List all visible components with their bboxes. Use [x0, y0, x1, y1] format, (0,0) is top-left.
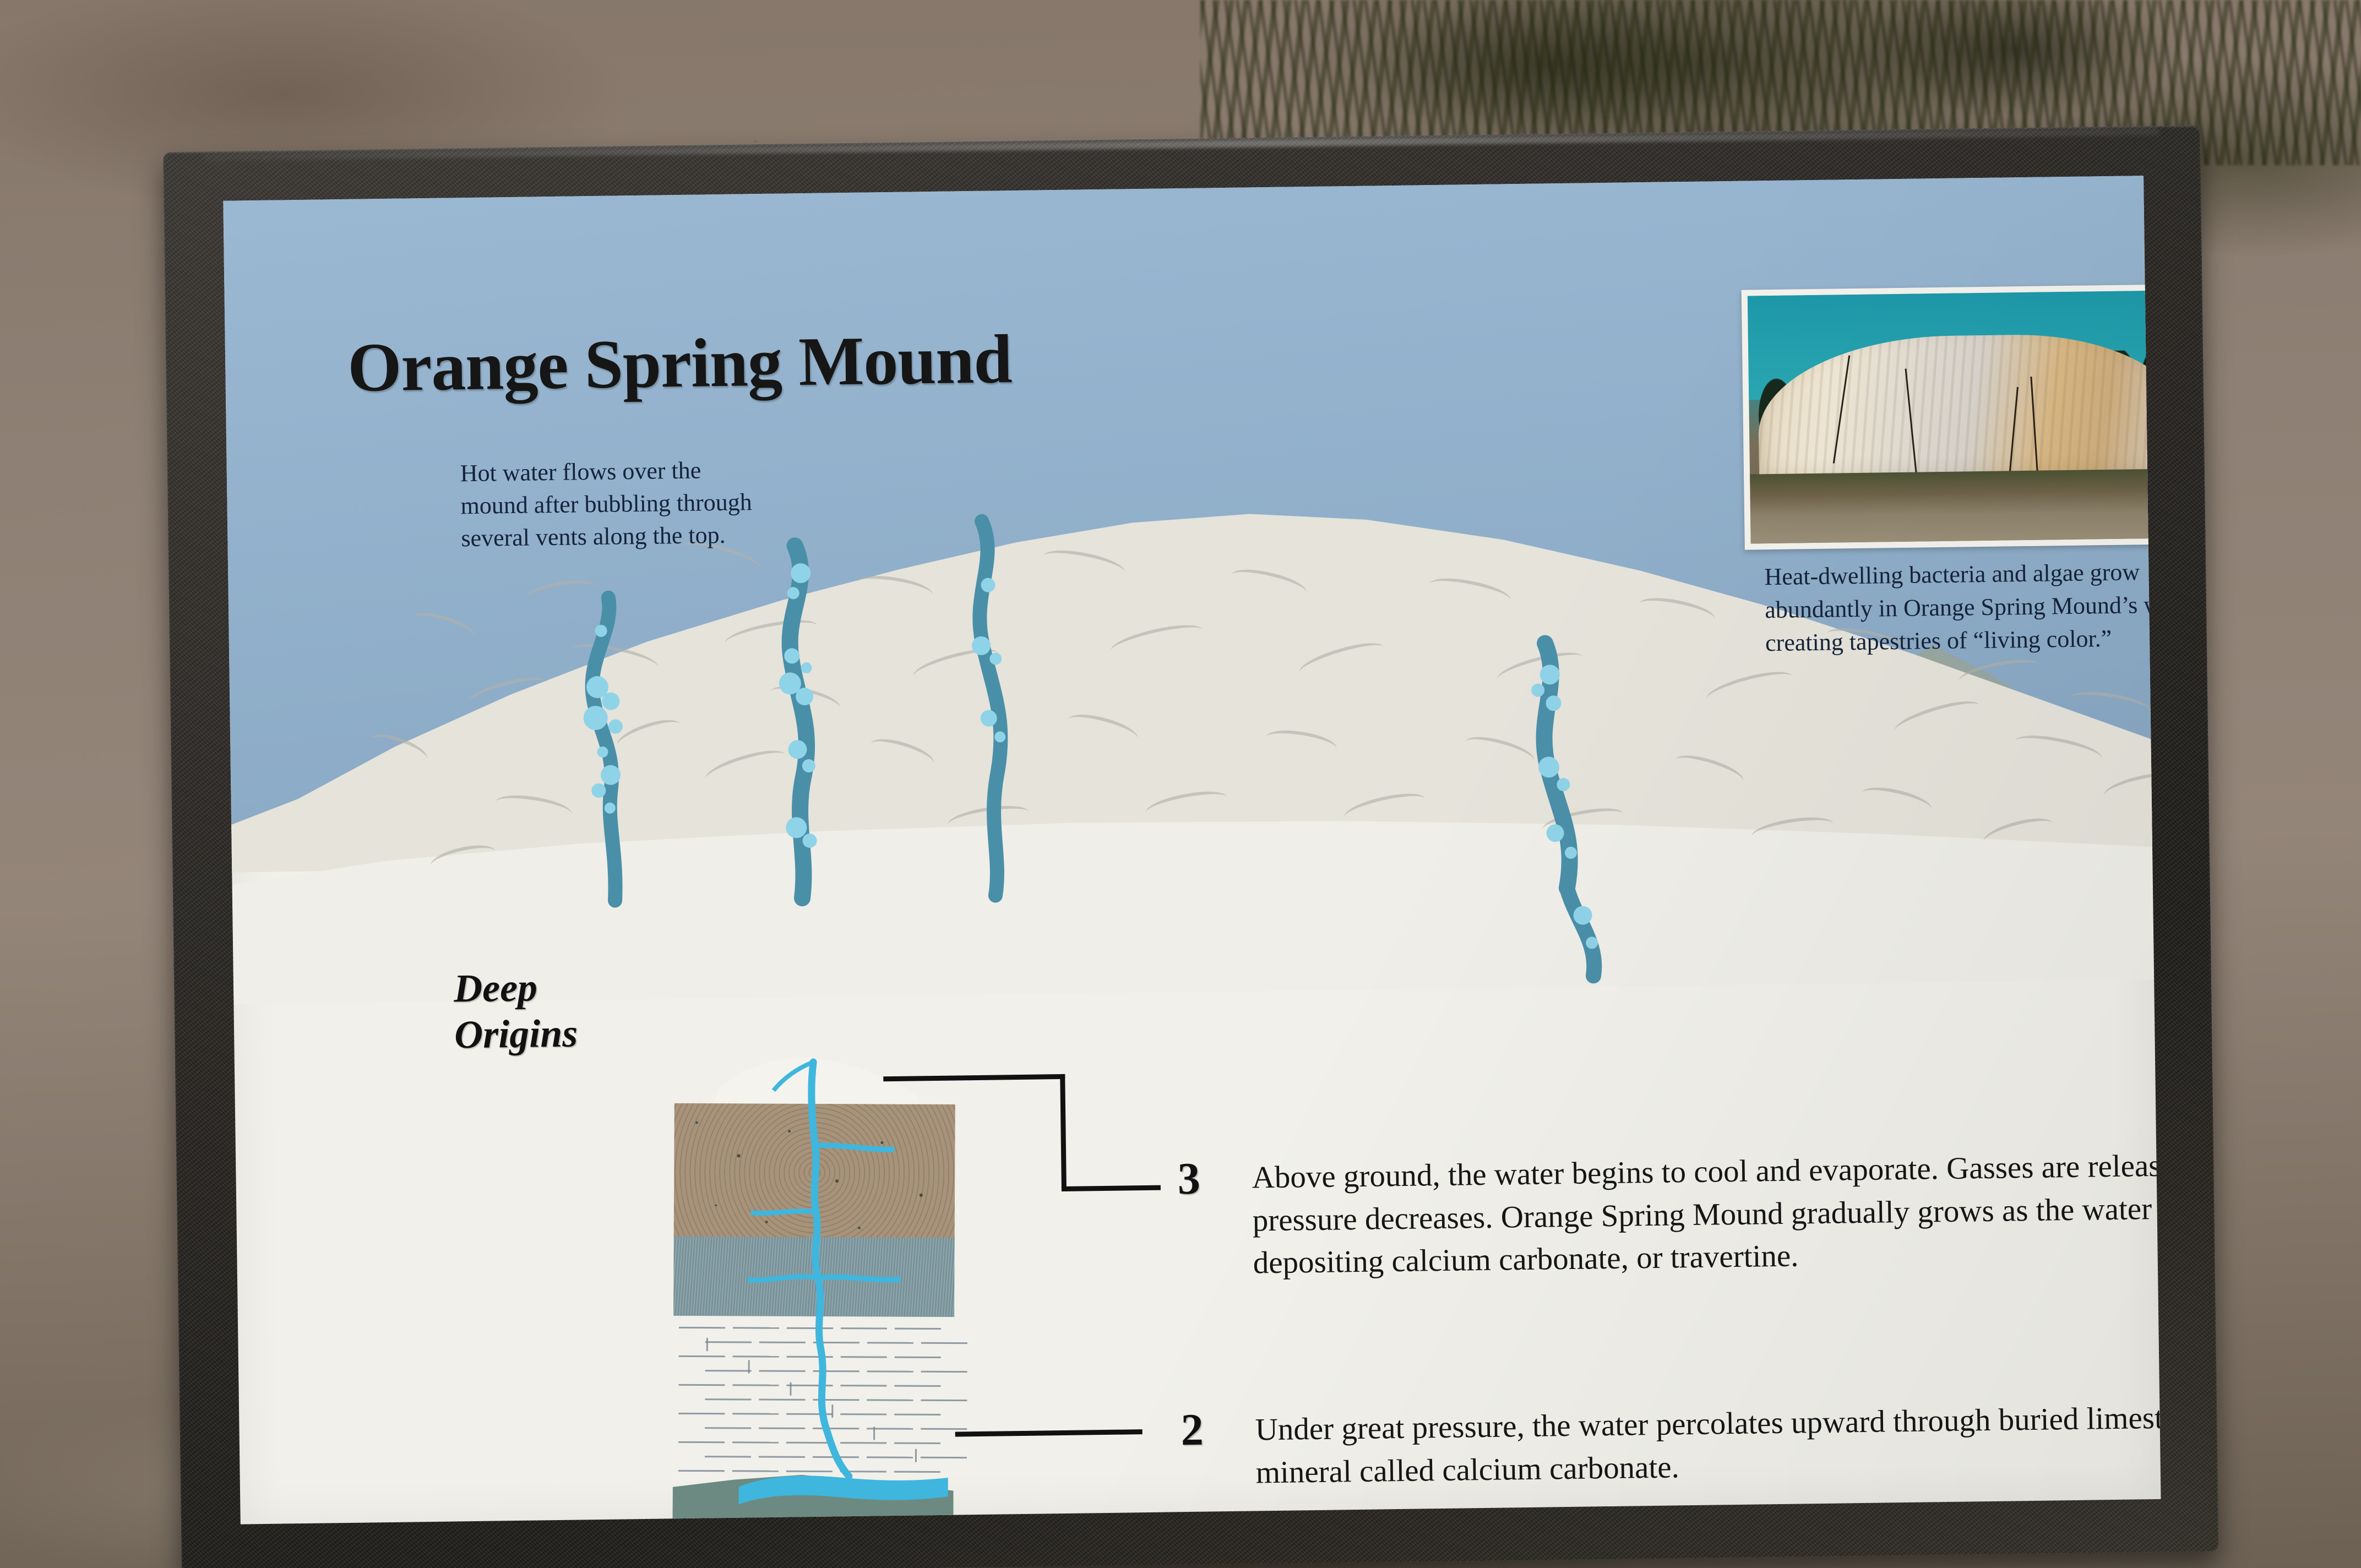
- inset-photo: [1742, 284, 2161, 549]
- step-text-2: Under great pressure, the water percolat…: [1255, 1393, 2161, 1494]
- deep-origins-line1: Deep: [454, 965, 538, 1010]
- photo-foreground-ground: [1750, 469, 2161, 544]
- photo-caption: Heat-dwelling bacteria and algae grow ab…: [1764, 555, 2161, 660]
- photo-of-interpretive-sign: Orange Spring Mound Hot water flows over…: [0, 0, 2361, 1568]
- deep-origins-line2: Origins: [454, 1011, 578, 1057]
- photo-image: [1748, 290, 2161, 544]
- sign-panel: Orange Spring Mound Hot water flows over…: [223, 176, 2161, 1524]
- cross-section-diagram: [672, 1052, 955, 1525]
- deep-origins-heading: Deep Origins: [454, 963, 653, 1058]
- step-text-3: Above ground, the water begins to cool a…: [1252, 1141, 2161, 1284]
- step-number-2: 2: [1180, 1404, 1204, 1456]
- mound-note-text: Hot water flows over the mound after bub…: [460, 454, 753, 555]
- leader-line-2: [955, 1429, 1143, 1436]
- leader-line-3-bottom: [1062, 1185, 1161, 1191]
- step-number-3: 3: [1177, 1153, 1200, 1205]
- leader-line-3-vertical: [1060, 1074, 1067, 1191]
- interpretive-sign: Orange Spring Mound Hot water flows over…: [163, 126, 2219, 1568]
- page-title: Orange Spring Mound: [347, 325, 1013, 403]
